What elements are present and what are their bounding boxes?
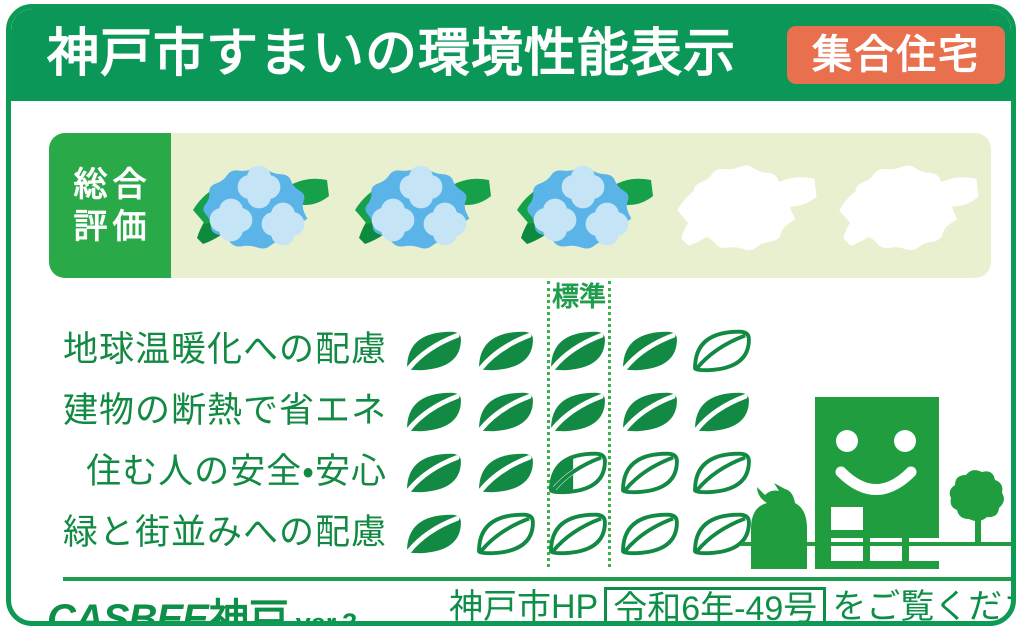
footer: CASBEE 神戸 ver.3 神戸市HP 令和6年-49号 をご覧ください。 xyxy=(11,584,1011,626)
footer-divider xyxy=(63,577,1016,581)
casbee-logo-mark: CASBEE xyxy=(47,597,208,626)
leaf-icon-empty xyxy=(471,507,539,559)
criterion-rating-leaves xyxy=(399,507,759,559)
overall-rating-strip: 総合 評価 xyxy=(49,133,991,278)
overall-label-line1: 総合 xyxy=(74,164,152,206)
tree-icon xyxy=(950,470,1004,544)
header-bar: 神戸市すまいの環境性能表示 集合住宅 xyxy=(11,9,1011,101)
hp-number: 令和6年-49号 xyxy=(604,587,826,626)
criterion-label: 住む人の安全・安心 xyxy=(11,449,399,495)
criterion-rating-leaves xyxy=(399,385,759,437)
ground-line xyxy=(741,542,1016,546)
leaf-icon-full xyxy=(399,385,467,437)
mascot-illustration xyxy=(741,379,1016,569)
hydrangea-icon-filled xyxy=(341,140,503,272)
hydrangea-icon-empty xyxy=(665,140,827,272)
criterion-label: 緑と街並みへの配慮 xyxy=(11,510,399,556)
cat-mascot-icon xyxy=(751,483,807,569)
casbee-logo: CASBEE 神戸 ver.3 xyxy=(47,586,357,626)
leaf-icon-full xyxy=(399,324,467,376)
criterion-label: 建物の断熱で省エネ xyxy=(11,388,399,434)
hydrangea-icon-empty xyxy=(827,140,989,272)
leaf-icon-half xyxy=(543,446,611,498)
leaf-icon-empty xyxy=(543,507,611,559)
overall-rating-label: 総合 評価 xyxy=(49,133,171,278)
leaf-icon-full xyxy=(471,446,539,498)
casbee-logo-kobe: 神戸 xyxy=(209,586,289,626)
criterion-rating-leaves xyxy=(399,446,759,498)
hydrangea-icon-filled xyxy=(503,140,665,272)
page-title: 神戸市すまいの環境性能表示 xyxy=(47,23,736,85)
standard-label: 標準 xyxy=(547,281,611,315)
overall-label-line2: 評価 xyxy=(74,206,152,248)
leaf-icon-full xyxy=(615,324,683,376)
leaf-icon-full xyxy=(615,385,683,437)
housing-type-badge: 集合住宅 xyxy=(787,26,1005,84)
leaf-icon-full xyxy=(399,446,467,498)
leaf-icon-empty xyxy=(687,324,755,376)
leaf-icon-full xyxy=(471,385,539,437)
hp-prefix: 神戸市HP xyxy=(449,585,598,626)
leaf-icon-full xyxy=(543,385,611,437)
performance-label-card: 神戸市すまいの環境性能表示 集合住宅 総合 評価 標準 地球温暖化への配慮建物の… xyxy=(6,4,1016,626)
criterion-label: 地球温暖化への配慮 xyxy=(11,327,399,373)
hp-reference: 神戸市HP 令和6年-49号 をご覧ください。 xyxy=(449,584,1016,626)
overall-rating-flowers xyxy=(179,133,991,278)
hydrangea-icon-filled xyxy=(179,140,341,272)
leaf-icon-empty xyxy=(615,446,683,498)
casbee-logo-version: ver.3 xyxy=(296,608,358,626)
leaf-icon-full xyxy=(471,324,539,376)
leaf-icon-empty xyxy=(615,507,683,559)
hp-suffix: をご覧ください。 xyxy=(832,585,1016,626)
leaf-icon-full xyxy=(543,324,611,376)
criterion-rating-leaves xyxy=(399,324,759,376)
leaf-icon-full xyxy=(399,507,467,559)
criterion-row: 地球温暖化への配慮 xyxy=(11,321,1011,378)
